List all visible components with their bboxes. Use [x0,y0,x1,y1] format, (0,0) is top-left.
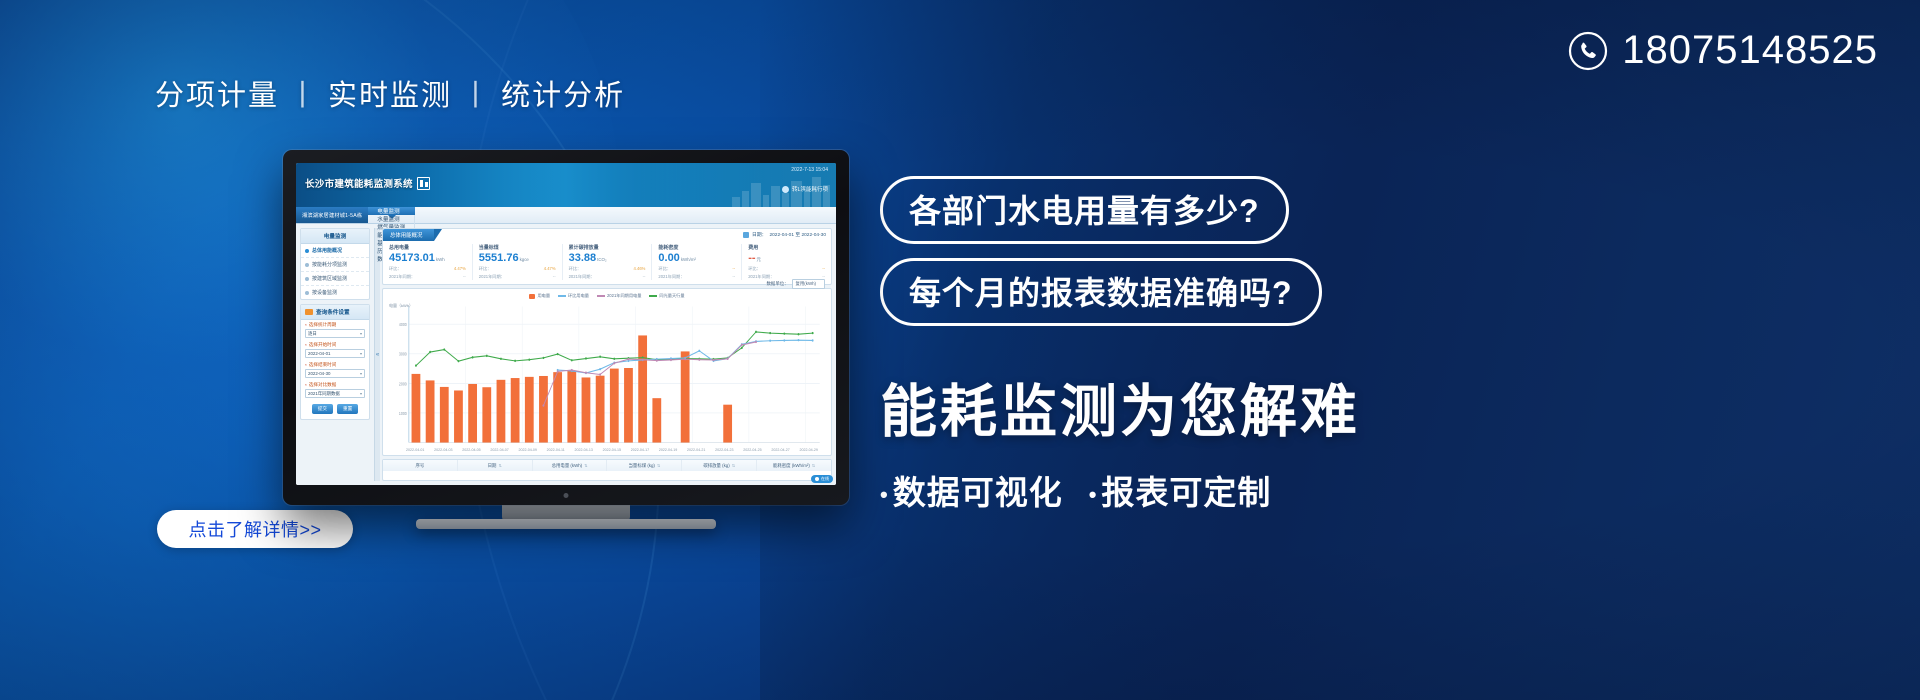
kpi-card-2: 累计碳排放量33.88tCO₂环比：4.46%2021年同期：-- [563,244,653,280]
chart-point [798,339,800,341]
required-marker: * [305,323,307,328]
question-pill-1: 各部门水电用量有多少? [880,176,1289,244]
chart-point [543,357,545,359]
chart-bar [511,378,520,443]
kpi-prev-row: 2021年同期：-- [389,274,466,280]
chart-bar [567,371,576,443]
learn-more-label: 点击了解详情>> [188,516,321,542]
legend-line-icon [649,295,657,297]
sidebar-query-card: 查询条件设置 *选择统计周期逐日▾*选择开始时间2022-04-01▾*选择结束… [300,304,370,420]
kpi-compare-value: 4.46% [634,266,646,272]
headline: 能耗监测为您解难 [880,366,1580,448]
monitor-stand-base [416,519,716,529]
question-pill-2-label: 每个月的报表数据准确吗? [909,268,1293,314]
chart-bar [723,405,732,443]
chart-point [571,369,573,371]
chart-point [755,341,757,343]
chart-point [698,350,700,352]
table-column-header-4[interactable]: 碳排放量 (kg)⇅ [682,460,757,471]
legend-item-0[interactable]: 用电量 [529,293,550,299]
chart-bar [482,387,491,442]
kpi-compare-value: 4.47% [544,266,556,272]
kpi-compare-value: 4.47% [454,266,466,272]
kpi-value: 45173.01kWh [389,253,466,264]
query-field-input[interactable]: 2022-04-01▾ [305,349,365,358]
query-field-value: 逐日 [308,331,317,337]
kpi-value: 33.88tCO₂ [569,253,646,264]
chart-point [458,360,460,362]
chart-bar [596,376,605,443]
chart-bar [454,390,463,442]
sort-icon[interactable]: ⇅ [498,463,501,468]
chart-x-axis-ticks: 2022-04-012022-04-032022-04-052022-04-07… [388,448,826,453]
kpi-prev-value: -- [643,274,646,280]
query-field-label: *选择结束时间 [305,362,365,368]
tagline-part-3: 统计分析 [501,80,625,112]
sidebar-query-title-row: 查询条件设置 [301,305,369,320]
table-column-label: 能耗密度 (kWh/m²) [773,463,810,469]
chart-point [486,355,488,357]
required-marker: * [305,363,307,368]
data-table: 序号日期⇅总用电量 (kWh)⇅当量标煤 (kg)⇅碳排放量 (kg)⇅能耗密度… [382,459,832,481]
chart-point [741,344,743,346]
bullet-active-icon [305,249,309,253]
kpi-prev-value: -- [553,274,556,280]
question-pill-2: 每个月的报表数据准确吗? [880,258,1322,326]
query-field-1: *选择开始时间2022-04-01▾ [301,340,369,360]
kpi-number: 33.88 [569,252,597,264]
x-tick-label-6: 2022-04-13 [574,448,592,452]
phone-circle-icon [1568,31,1608,71]
chart-plot: 1000200030004000 [388,301,826,448]
chart-point [727,358,729,360]
marketing-copy: 各部门水电用量有多少? 每个月的报表数据准确吗? 能耗监测为您解难 •数据可视化… [880,176,1580,514]
kpi-label: 总用电量 [389,244,466,251]
table-column-header-3[interactable]: 当量标煤 (kg)⇅ [607,460,682,471]
sidebar-item-label: 按设备监测 [312,289,337,296]
kpi-number: 45173.01 [389,252,435,264]
nav-tab-1[interactable]: 水量监测 [368,215,415,223]
sort-icon[interactable]: ⇅ [657,463,660,468]
tagline-separator-1: 丨 [288,80,319,112]
phone-number: 18075148525 [1622,28,1878,73]
chart-legend: 用电量环比用电量2021年同期用电量同光量天行量 [388,293,826,299]
chart-bar [553,372,562,442]
chart-point [783,339,785,341]
bullet-icon [305,291,309,295]
app-screen: 长沙市建筑能耗监测系统 2022-7-13 15:04 转L滨能耗行项 湘滨湖家… [296,163,836,485]
chevron-down-icon: ▾ [360,371,362,376]
table-column-header-2[interactable]: 总用电量 (kWh)⇅ [533,460,608,471]
chart-point [472,356,474,358]
y-tick-label: 1000 [399,410,407,416]
query-field-value: 2022-04-01 [308,351,330,356]
app-header: 长沙市建筑能耗监测系统 2022-7-13 15:04 转L滨能耗行项 [296,163,836,207]
date-range-label: 日期： [752,231,766,238]
data-table-header: 序号日期⇅总用电量 (kWh)⇅当量标煤 (kg)⇅碳排放量 (kg)⇅能耗密度… [383,460,831,480]
sidebar-item-3[interactable]: 按设备监测 [301,286,369,299]
y-tick-label: 2000 [399,381,407,387]
chart-point [528,358,530,360]
chart-bar [426,380,435,442]
table-column-label: 序号 [416,463,425,469]
overview-panel: 总体用能概况 日期： 2022-04-01 至 2022-04-30 总用电量4… [382,228,832,285]
query-field-label: *选择对比数据 [305,382,365,388]
kpi-compare-row: 环比：4.47% [479,266,556,272]
chart-bar [525,377,534,443]
chart-point [812,339,814,341]
query-field-label: *选择统计周期 [305,322,365,328]
chart-point [514,360,516,362]
chart-point [613,362,615,364]
x-tick-label-11: 2022-04-23 [715,448,733,452]
chart-bar [638,335,647,442]
table-column-header-1[interactable]: 日期⇅ [458,460,533,471]
feature-bullet-2: 报表可定制 [1101,474,1271,511]
chart-point [557,370,559,372]
sort-icon[interactable]: ⇅ [732,463,735,468]
kpi-prev-value: -- [732,274,735,280]
query-field-2: *选择结束时间2022-04-30▾ [301,360,369,380]
legend-line-icon [558,295,566,297]
tagline-separator-2: 丨 [461,80,492,112]
chart-bar [610,369,619,443]
chart-panel: 数据单位： 复用(kWh) 用电量环比用电量2021年同期用电量同光量天行量 电… [382,288,832,456]
reset-button[interactable]: 重置 [337,404,358,414]
kpi-label: 当量标煤 [479,244,556,251]
kpi-prev-label: 2021年同期： [569,274,595,280]
calendar-icon [743,232,749,238]
chart-point [713,359,715,361]
sidebar-item-1[interactable]: 按能耗分项监测 [301,258,369,272]
kpi-compare-label: 环比： [389,266,402,272]
kpi-row: 总用电量45173.01kWh环比：4.47%2021年同期：--当量标煤555… [383,241,831,284]
kpi-compare-label: 环比： [748,266,761,272]
chart-point [628,358,630,360]
x-tick-label-0: 2022-04-01 [406,448,424,452]
required-marker: * [305,383,307,388]
kpi-label: 费用 [748,244,825,251]
bullet-mark-2: • [1089,482,1098,507]
kpi-unit: tCO₂ [597,257,607,262]
chart-point [599,356,601,358]
chart-point [557,353,559,355]
chart-point [571,359,573,361]
app-user[interactable]: 转L滨能耗行项 [782,185,828,193]
app-sidebar: 电量监测 总体用能概况按能耗分项监测按建筑区域监测按设备监测 查询条件设置 *选… [296,224,374,485]
x-tick-label-8: 2022-04-17 [631,448,649,452]
chart-unit-label: 数据单位： [767,281,789,287]
legend-label: 用电量 [537,293,550,299]
x-tick-label-9: 2022-04-19 [659,448,677,452]
legend-swatch-icon [529,294,535,299]
date-range-value: 2022-04-01 至 2022-04-30 [769,231,826,238]
chevron-down-icon: ▾ [360,331,362,336]
chart-point [798,333,800,335]
chart-point [613,358,615,360]
sidebar-menu-items: 总体用能概况按能耗分项监测按建筑区域监测按设备监测 [301,244,369,299]
chart-bar [681,351,690,442]
legend-line-icon [597,295,605,297]
sidebar-query-fields: *选择统计周期逐日▾*选择开始时间2022-04-01▾*选择结束时间2022-… [301,320,369,400]
chart-point [429,351,431,353]
kpi-compare-label: 环比： [569,266,582,272]
kpi-unit: kWh/m² [681,257,696,262]
app-main: 总体用能概况 日期： 2022-04-01 至 2022-04-30 总用电量4… [380,224,836,485]
kpi-prev-row: 2021年同期：-- [569,274,646,280]
x-tick-label-10: 2022-04-21 [687,448,705,452]
kpi-number: 5551.76 [479,252,519,264]
chart-bar [652,398,661,442]
sort-icon[interactable]: ⇅ [584,463,587,468]
chat-label: 在线 [821,476,829,482]
chart-point [684,358,686,360]
filter-icon [305,309,313,315]
kpi-prev-label: 2021年同期： [389,274,415,280]
chart-bar [582,377,591,442]
bullet-mark-1: • [880,482,889,507]
kpi-unit: kWh [436,257,445,262]
y-tick-label: 3000 [399,351,407,357]
sidebar-query-buttons: 提交 重置 [301,400,369,419]
query-field-label-text: 选择对比数据 [309,382,337,388]
kpi-value: 5551.76kgce [479,253,556,264]
sort-icon[interactable]: ⇅ [812,463,815,468]
query-field-0: *选择统计周期逐日▾ [301,320,369,340]
sidebar-menu-card: 电量监测 总体用能概况按能耗分项监测按建筑区域监测按设备监测 [300,228,370,300]
kpi-compare-value: -- [822,266,825,272]
query-field-label: *选择开始时间 [305,342,365,348]
kpi-compare-row: 环比：-- [658,266,735,272]
building-chart-icon [417,177,430,190]
query-field-input[interactable]: 2022-04-30▾ [305,369,365,378]
kpi-value: 0.00kWh/m² [658,253,735,264]
feature-bullets: •数据可视化•报表可定制 [880,466,1580,514]
x-tick-label-5: 2022-04-11 [547,448,565,452]
query-field-input[interactable]: 2021年同期数据▾ [305,389,365,398]
submit-button[interactable]: 提交 [312,404,333,414]
kpi-card-4: 费用--元环比：--2021年同期：-- [742,244,831,280]
kpi-number: -- [748,252,755,264]
chart-point [642,358,644,360]
kpi-prev-value: -- [463,274,466,280]
chart-point [585,357,587,359]
query-field-value: 2021年同期数据 [308,391,340,397]
kpi-prev-row: 2021年同期：-- [479,274,556,280]
chevron-down-icon: ▾ [360,351,362,356]
online-chat-button[interactable]: 在线 [811,475,833,483]
learn-more-button[interactable]: 点击了解详情>> [157,510,353,548]
x-tick-label-13: 2022-04-27 [771,448,789,452]
query-field-value: 2022-04-30 [308,371,330,376]
chart-point [670,359,672,361]
chart-point [585,371,587,373]
legend-label: 2021年同期用电量 [607,293,641,299]
app-title-group: 长沙市建筑能耗监测系统 [305,176,430,190]
kpi-compare-label: 环比： [479,266,492,272]
kpi-value: --元 [748,253,825,264]
chart-point [769,340,771,342]
chart-point [783,332,785,334]
kpi-label: 累计碳排放量 [569,244,646,251]
app-datetime: 2022-7-13 15:04 [791,167,828,173]
table-column-label: 总用电量 (kWh) [552,463,583,469]
kpi-prev-label: 2021年同期： [479,274,505,280]
chart-point [599,373,601,375]
chart-point [769,332,771,334]
chart-point [656,359,658,361]
app-user-label: 转L滨能耗行项 [792,185,828,193]
chat-icon [815,477,819,481]
kpi-card-3: 能耗密度0.00kWh/m²环比：--2021年同期：-- [652,244,742,280]
table-column-header-0[interactable]: 序号 [383,460,458,471]
user-icon [782,186,789,193]
sidebar-query-title: 查询条件设置 [316,308,350,316]
question-pill-1-label: 各部门水电用量有多少? [909,186,1260,232]
kpi-card-1: 当量标煤5551.76kgce环比：4.47%2021年同期：-- [473,244,563,280]
kpi-prev-row: 2021年同期：-- [658,274,735,280]
kpi-prev-label: 2021年同期： [658,274,684,280]
query-field-3: *选择对比数据2021年同期数据▾ [301,380,369,400]
table-column-label: 日期 [488,463,497,469]
overview-panel-tab: 总体用能概况 [383,229,434,241]
date-range-display[interactable]: 日期： 2022-04-01 至 2022-04-30 [743,231,826,238]
nav-tab-0[interactable]: 电量监测 [368,207,415,215]
x-tick-label-3: 2022-04-07 [490,448,508,452]
table-column-header-5[interactable]: 能耗密度 (kWh/m²)⇅ [757,460,831,471]
monitor-mockup: 长沙市建筑能耗监测系统 2022-7-13 15:04 转L滨能耗行项 湘滨湖家… [283,150,849,505]
chart-point [415,364,417,366]
kpi-unit: kgce [520,257,529,262]
chart-bar [440,387,449,443]
x-tick-label-1: 2022-04-03 [434,448,452,452]
chart-bar [497,380,506,443]
bullet-icon [305,277,309,281]
bullet-icon [305,263,309,267]
chart-bar [468,384,477,443]
x-tick-label-4: 2022-04-09 [519,448,537,452]
x-tick-label-7: 2022-04-15 [603,448,621,452]
chart-point [500,358,502,360]
chart-point [812,332,814,334]
kpi-compare-label: 环比： [658,266,671,272]
chart-point [543,404,545,406]
monitor-bezel: 长沙市建筑能耗监测系统 2022-7-13 15:04 转L滨能耗行项 湘滨湖家… [283,150,849,505]
feature-bullet-1: 数据可视化 [893,474,1063,511]
chart-line [416,332,813,366]
x-tick-label-14: 2022-04-29 [799,448,817,452]
sidebar-item-label: 按能耗分项监测 [312,261,347,268]
chart-unit-value[interactable]: 复用(kWh) [792,279,826,289]
sidebar-item-0[interactable]: 总体用能概况 [301,244,369,258]
app-body: 电量监测 总体用能概况按能耗分项监测按建筑区域监测按设备监测 查询条件设置 *选… [296,224,836,485]
chart-point [443,348,445,350]
query-field-label-text: 选择开始时间 [309,342,337,348]
nav-brand[interactable]: 湘滨湖家居建材城1-5A栋 [296,207,368,223]
legend-item-2[interactable]: 2021年同期用电量 [597,293,641,299]
nav-tab-list: 电量监测水量监测燃气量监测能耗报表基础信息历史数据数据报送 [368,207,415,223]
sidebar-item-2[interactable]: 按建筑区域监测 [301,272,369,286]
tagline: 分项计量丨实时监测丨统计分析 [155,72,625,114]
chart-bar [412,374,421,443]
table-column-label: 碳排放量 (kg) [703,463,729,469]
legend-label: 同光量天行量 [659,293,684,299]
legend-item-3[interactable]: 同光量天行量 [649,293,684,299]
chevron-down-icon: ▾ [360,391,362,396]
chart-bar [624,368,633,443]
x-tick-label-2: 2022-04-05 [462,448,480,452]
chart-point [755,331,757,333]
kpi-compare-value: -- [732,266,735,272]
kpi-compare-row: 环比：-- [748,266,825,272]
sidebar-item-label: 按建筑区域监测 [312,275,347,282]
chart-bar [539,376,548,443]
kpi-label: 能耗密度 [658,244,735,251]
required-marker: * [305,343,307,348]
chart-unit-selector[interactable]: 数据单位： 复用(kWh) [767,279,825,289]
query-field-input[interactable]: 逐日▾ [305,329,365,338]
app-nav: 湘滨湖家居建材城1-5A栋 电量监测水量监测燃气量监测能耗报表基础信息历史数据数… [296,207,836,224]
x-tick-label-12: 2022-04-25 [743,448,761,452]
table-column-label: 当量标煤 (kg) [629,463,655,469]
legend-item-1[interactable]: 环比用电量 [558,293,589,299]
query-field-label-text: 选择结束时间 [309,362,337,368]
legend-label: 环比用电量 [568,293,589,299]
chart-point [741,347,743,349]
tagline-part-2: 实时监测 [328,80,452,112]
chart-point [599,368,601,370]
kpi-number: 0.00 [658,252,679,264]
app-title-text: 长沙市建筑能耗监测系统 [305,176,413,190]
kpi-card-0: 总用电量45173.01kWh环比：4.47%2021年同期：-- [383,244,473,280]
y-tick-label: 4000 [399,322,407,328]
contact-phone[interactable]: 18075148525 [1568,28,1878,73]
kpi-compare-row: 环比：4.46% [569,266,646,272]
chart-y-axis-label: 电量（kWh） [389,303,413,309]
tagline-part-1: 分项计量 [155,80,279,112]
sidebar-menu-title: 电量监测 [301,229,369,244]
kpi-unit: 元 [757,257,761,262]
sidebar-item-label: 总体用能概况 [312,247,342,254]
query-field-label-text: 选择统计周期 [309,322,337,328]
kpi-compare-row: 环比：4.47% [389,266,466,272]
chart-point [698,358,700,360]
